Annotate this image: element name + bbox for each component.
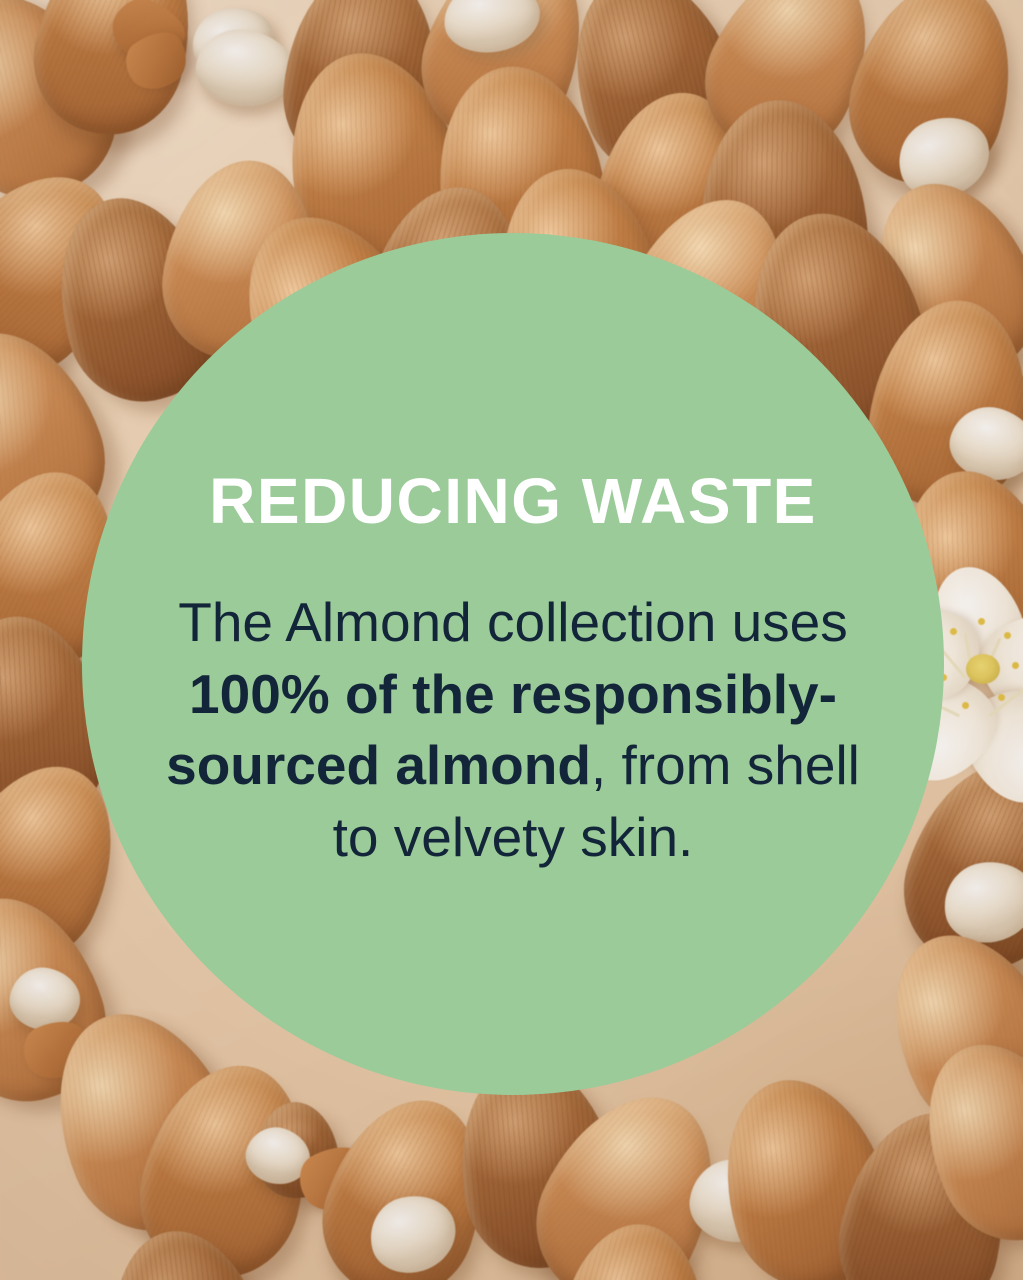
blossom-anther (1004, 632, 1011, 639)
blossom-anther (1012, 662, 1019, 669)
blossom-center (966, 654, 1000, 684)
callout-body-copy: The Almond collection uses 100% of the r… (142, 587, 884, 873)
blossom-anther (962, 702, 969, 709)
almond-reducing-waste-poster: REDUCING WASTE The Almond collection use… (0, 0, 1023, 1280)
green-circle-callout: REDUCING WASTE The Almond collection use… (82, 233, 944, 1095)
blossom-anther (978, 618, 985, 625)
body-segment-lead: The Almond collection uses (178, 591, 848, 653)
blossom-anther (950, 628, 957, 635)
callout-headline: REDUCING WASTE (209, 469, 817, 533)
blossom-anther (998, 694, 1005, 701)
